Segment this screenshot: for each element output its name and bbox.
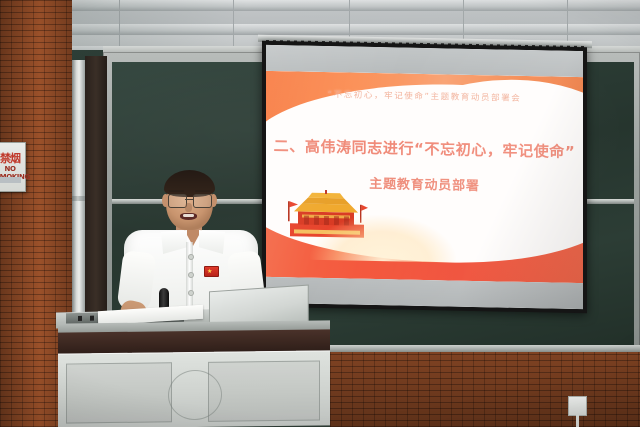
slide-content: “不忘初心，牢记使命”主题教育动员部署会 二、高伟涛同志进行“不忘初心，牢记使命… xyxy=(266,71,583,283)
projected-slide: “不忘初心，牢记使命”主题教育动员部署会 二、高伟涛同志进行“不忘初心，牢记使命… xyxy=(266,45,583,309)
teeth xyxy=(183,214,194,217)
nose xyxy=(185,203,192,212)
hair xyxy=(164,170,215,197)
outlet-conduit xyxy=(576,415,579,427)
lectern xyxy=(58,322,330,427)
projection-screen: “不忘初心，牢记使命”主题教育动员部署会 二、高伟涛同志进行“不忘初心，牢记使命… xyxy=(262,41,587,314)
shirt-button xyxy=(188,254,194,260)
shirt-button xyxy=(188,290,194,296)
lectern-door-left[interactable] xyxy=(66,362,172,423)
shirt-button xyxy=(188,272,194,278)
sign-lower-bar xyxy=(0,177,21,183)
slide-glow xyxy=(310,214,456,263)
wall-outlet[interactable] xyxy=(568,396,587,416)
slide-letterbox-bottom xyxy=(266,277,583,309)
classroom-scene: 禁烟 NO SMOKING “不忘初心，牢记使命”主题教育动员部署会 二、高伟涛… xyxy=(0,0,640,427)
no-smoking-sign: 禁烟 NO SMOKING xyxy=(0,142,26,192)
party-emblem-badge: ★ xyxy=(204,266,219,277)
no-smoking-cn-text: 禁烟 xyxy=(0,150,25,166)
lectern-door-right[interactable] xyxy=(208,360,320,421)
star-icon: ★ xyxy=(207,269,212,275)
pipe-joint xyxy=(72,196,85,201)
brick-wall-lower xyxy=(330,352,640,427)
